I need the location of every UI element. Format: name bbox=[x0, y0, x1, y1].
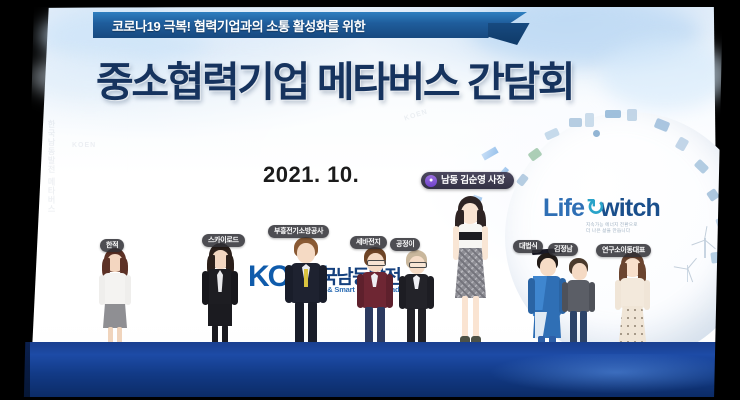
factory-icon bbox=[605, 110, 621, 118]
banner-main-title: 중소협력기업 메타버스 간담회 bbox=[96, 48, 573, 108]
dot-icon bbox=[593, 130, 600, 137]
avatar-name-tag[interactable]: 한적 bbox=[100, 239, 124, 252]
avatar-name-tag[interactable]: 스카이로드 bbox=[202, 234, 245, 247]
backdrop-watermark-small: KOEN bbox=[72, 142, 96, 149]
wind-turbine-icon bbox=[681, 258, 695, 282]
cloud-decoration bbox=[600, 40, 730, 110]
avatar-name-tag[interactable]: 김정남 bbox=[548, 243, 578, 256]
avatar-name-tag[interactable]: 대법식 bbox=[513, 240, 543, 253]
ev-charger-icon bbox=[694, 159, 710, 175]
lifeswitch-tagline: 지속가능 에너지 전환으로 더 나은 삶을 만듭니다 bbox=[586, 222, 638, 234]
wind-turbine-icon bbox=[697, 230, 713, 258]
avatar-name-tag[interactable]: 연구소이동대표 bbox=[596, 244, 651, 257]
event-date: 2021. 10. bbox=[263, 162, 359, 188]
banner-subtitle: 코로나19 극복! 협력기업과의 소통 활성화를 위한 bbox=[112, 16, 365, 35]
letterbox-top bbox=[0, 0, 740, 7]
tower-icon bbox=[675, 136, 690, 151]
building-icon bbox=[585, 113, 594, 127]
presenter-name-tag[interactable]: ●남동 김순영 사장 bbox=[421, 172, 514, 189]
screenshot-canvas: 한국남동발전 메타버스 KOEN 중소협력기업 메타버스 간담회 · 한국남동발… bbox=[0, 0, 740, 400]
glasses-icon bbox=[367, 260, 386, 266]
avatar-name-tag[interactable]: 공정이 bbox=[390, 238, 420, 251]
recycle-switch-icon: ↻ bbox=[586, 192, 608, 222]
backdrop-watermark-left: 한국남동발전 메타버스 bbox=[46, 120, 57, 270]
bulb-icon bbox=[706, 188, 720, 202]
letterbox-left bbox=[0, 0, 34, 400]
building-icon bbox=[569, 118, 582, 127]
lifeswitch-logo-life: Life bbox=[543, 194, 584, 222]
presenter-name-label: 남동 김순영 사장 bbox=[441, 175, 505, 186]
avatar-name-tag[interactable]: 부흥전기소방공사 bbox=[268, 225, 329, 238]
lifeswitch-logo-switch: witch bbox=[600, 194, 660, 222]
user-badge-icon: ● bbox=[425, 175, 437, 187]
avatar-name-tag[interactable]: 세바전지 bbox=[350, 236, 387, 249]
glasses-icon bbox=[409, 262, 427, 268]
building-icon bbox=[627, 109, 637, 121]
battery-icon bbox=[654, 118, 671, 133]
stage-reflection bbox=[430, 354, 740, 400]
